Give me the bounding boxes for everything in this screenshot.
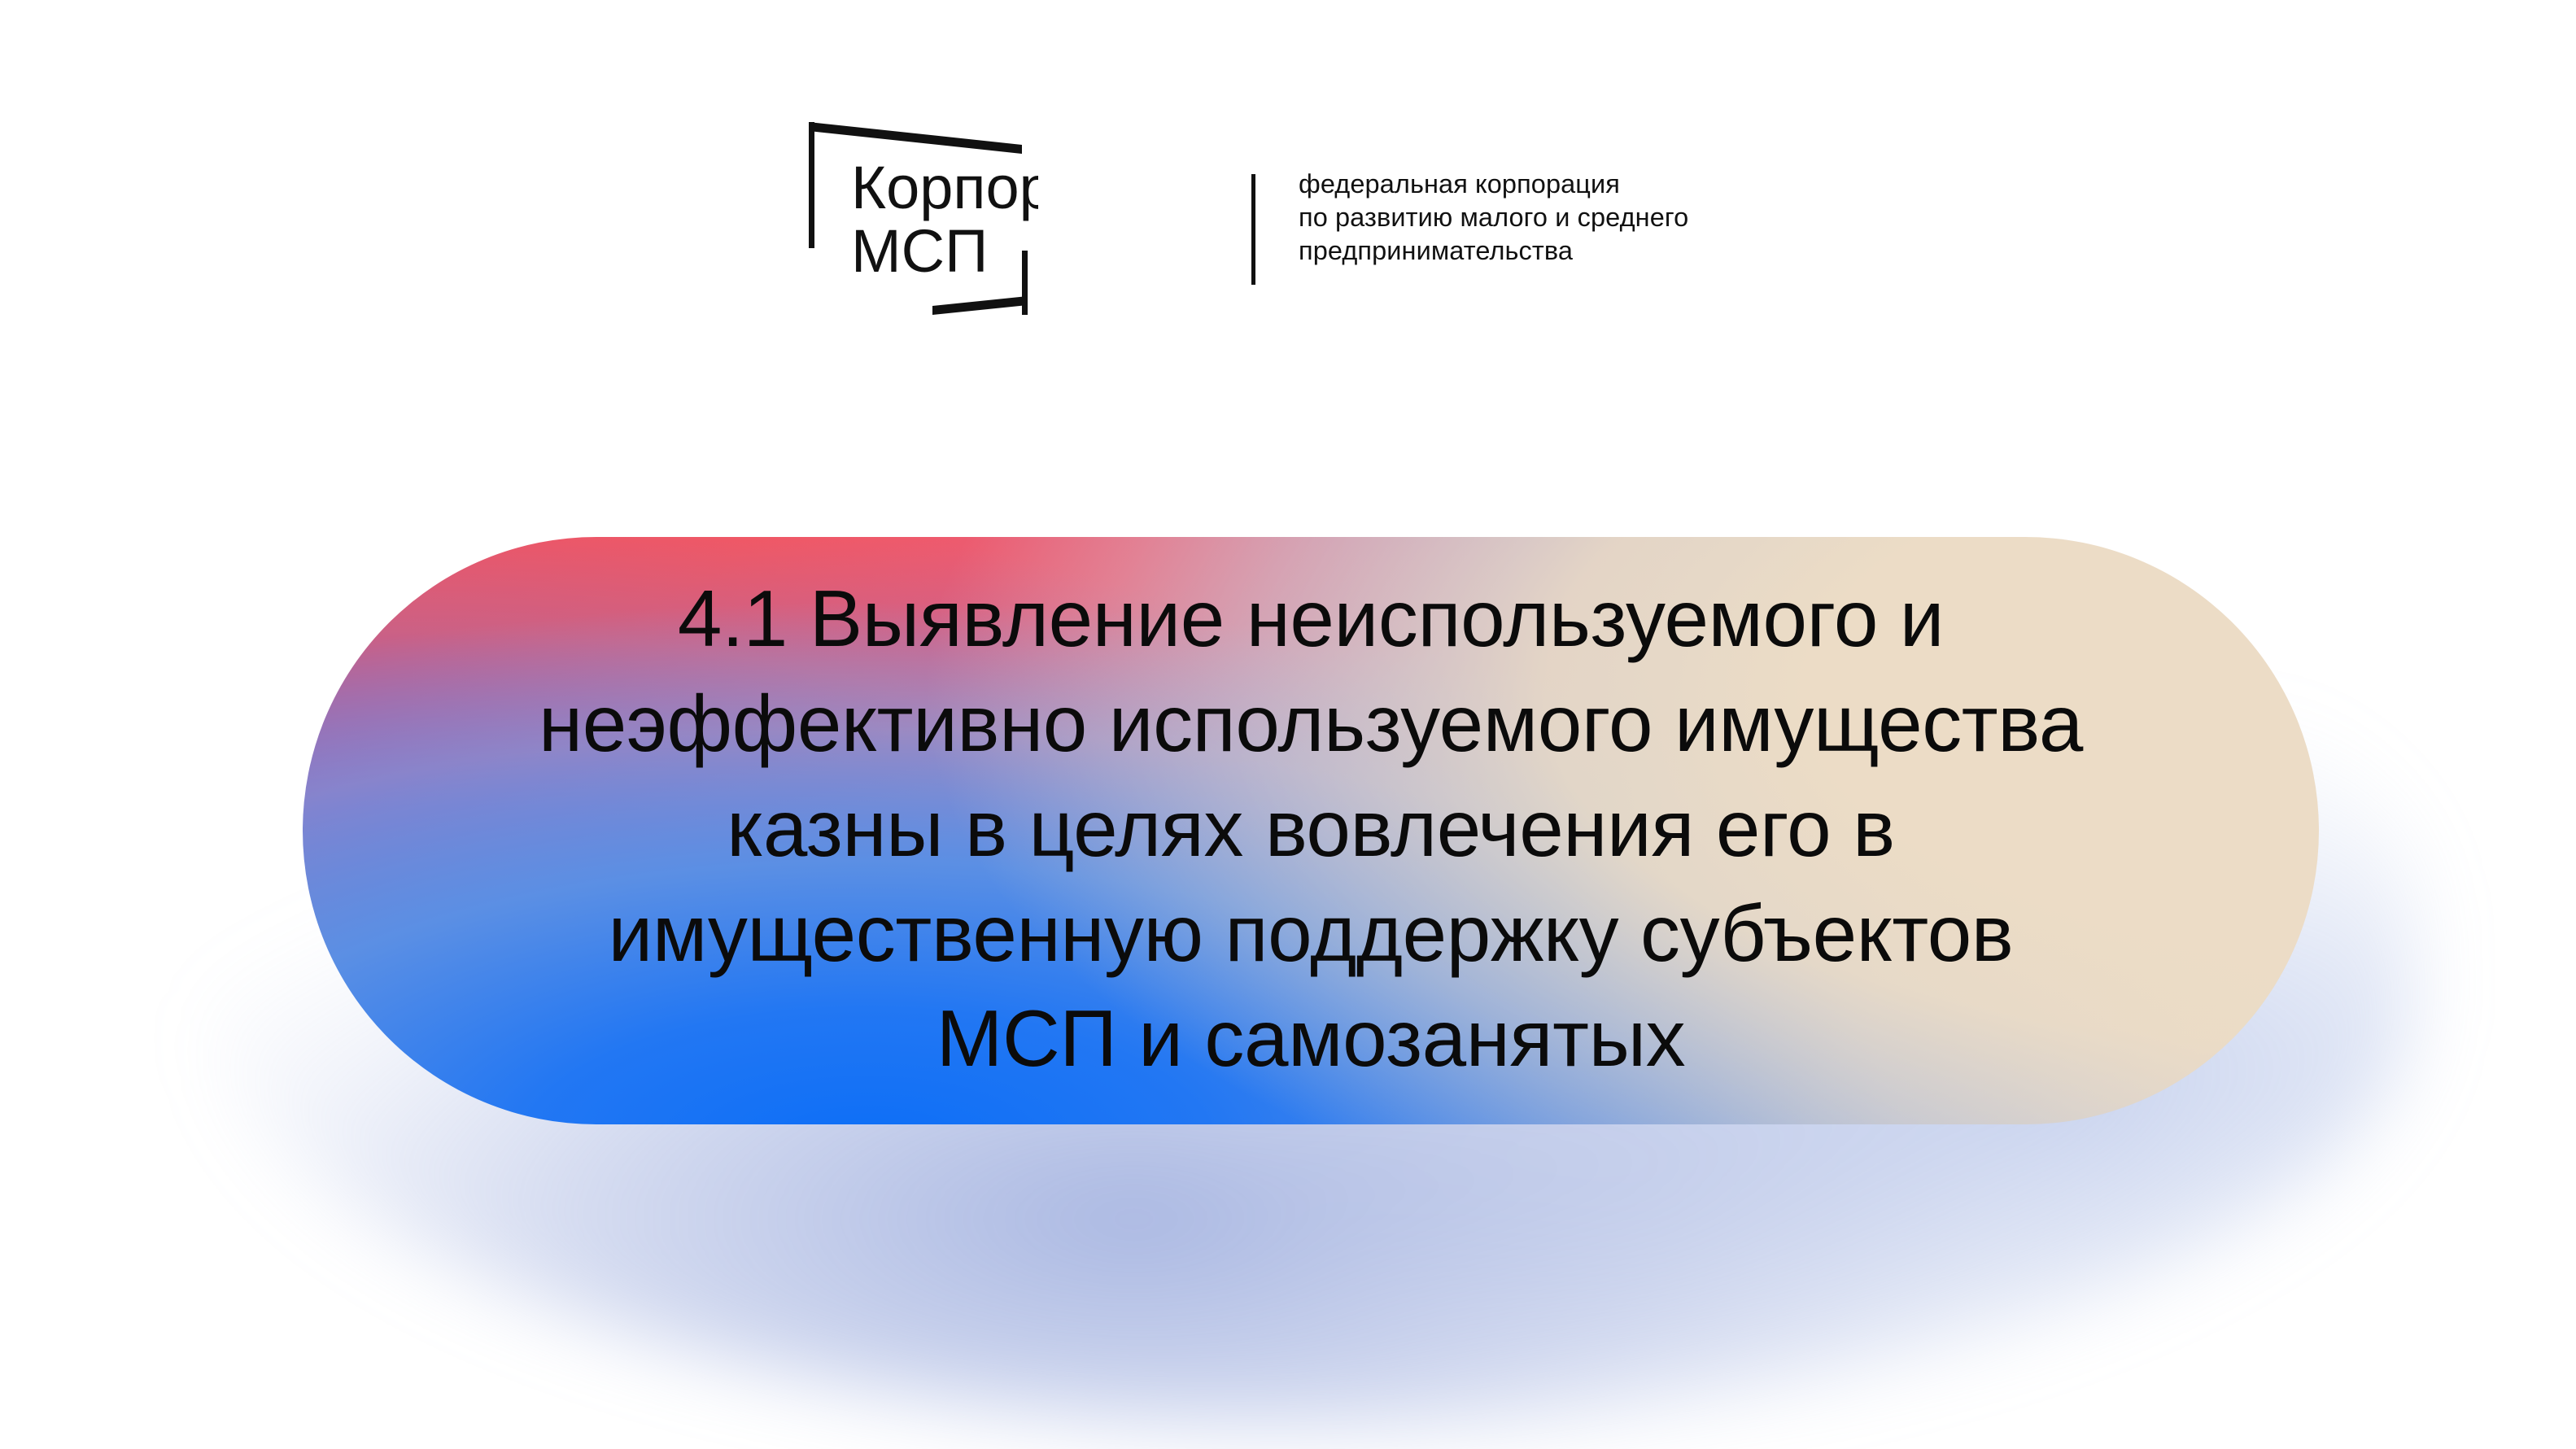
logo-wordmark-line-2: МСП	[851, 217, 988, 285]
headline-pill: 4.1 Выявление неиспользуемого и неэффект…	[303, 537, 2319, 1124]
logo-tagline: федеральная корпорация по развитию малог…	[1299, 168, 1787, 268]
pill-gradient-surface: 4.1 Выявление неиспользуемого и неэффект…	[303, 537, 2319, 1124]
logo-lockup: Корпорация МСП федеральная корпорация по…	[802, 112, 1795, 334]
pill-text-block: 4.1 Выявление неиспользуемого и неэффект…	[303, 537, 2319, 1124]
logo-divider	[1251, 174, 1255, 285]
slide-canvas: Корпорация МСП федеральная корпорация по…	[0, 0, 2576, 1449]
logo-wordmark-line-1: Корпорация	[851, 154, 1038, 221]
slide-title: 4.1 Выявление неиспользуемого и неэффект…	[539, 566, 2083, 1091]
korporatsiya-msp-logo-icon: Корпорация МСП	[802, 112, 1038, 334]
